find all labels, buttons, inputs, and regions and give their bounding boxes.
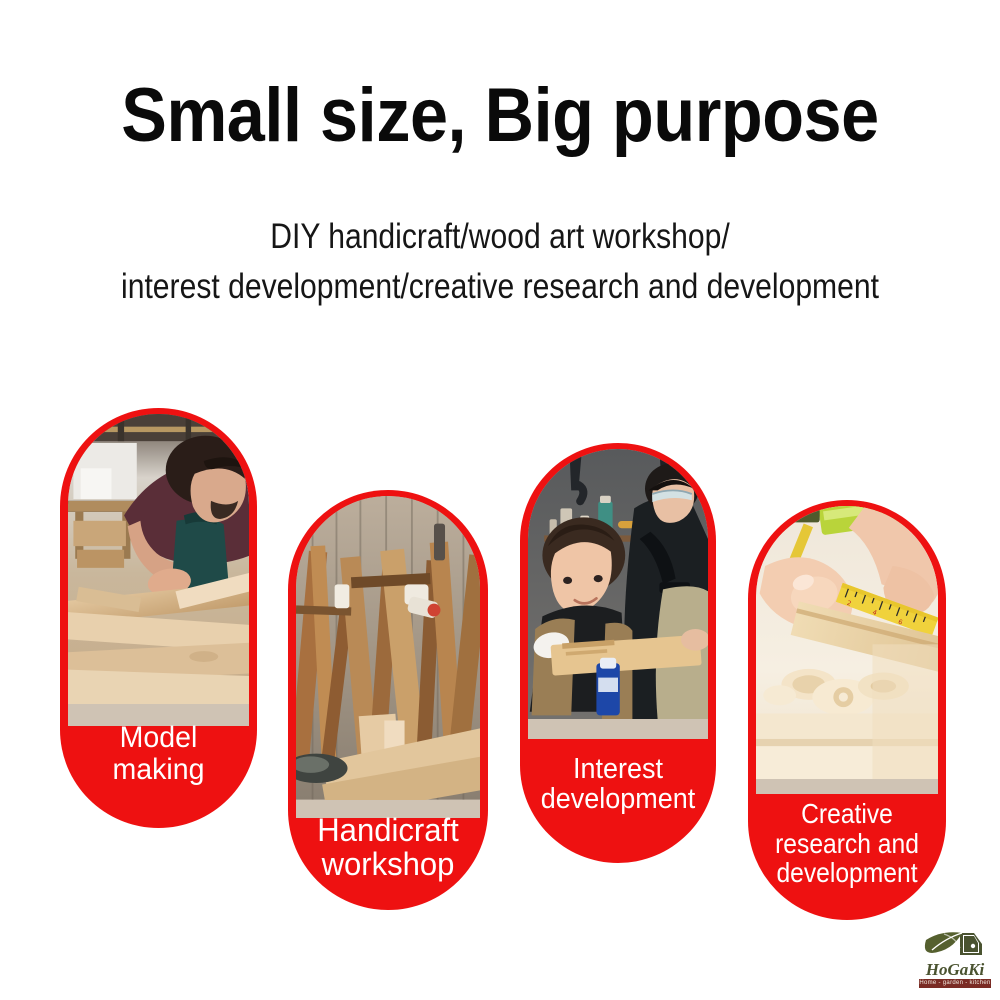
logo-wordmark: HoGaKi bbox=[916, 961, 994, 978]
card-photo-handicraft-workshop bbox=[296, 496, 480, 818]
card-label-model-making: Model making bbox=[65, 722, 252, 786]
house-leaf-icon-svg bbox=[922, 930, 988, 958]
card-label-line: development bbox=[532, 784, 703, 815]
house-leaf-icon bbox=[916, 930, 994, 963]
card-label-handicraft-workshop: Handicraft workshop bbox=[291, 814, 485, 882]
card-label-line: Creative bbox=[765, 799, 929, 829]
measuring-wood-illustration: 2 4 6 bbox=[756, 506, 938, 779]
feature-card-model-making[interactable]: Model making bbox=[60, 408, 257, 828]
card-label-line: Interest bbox=[532, 754, 703, 785]
feature-card-list: Model making bbox=[0, 0, 1000, 1000]
timber-stack-illustration bbox=[296, 496, 480, 800]
card-label-line: Model making bbox=[71, 722, 247, 786]
feature-card-handicraft-workshop[interactable]: Handicraft workshop bbox=[288, 490, 488, 910]
feature-card-interest-development[interactable]: Interest development bbox=[520, 443, 716, 863]
card-label-interest-development: Interest development bbox=[527, 754, 709, 815]
card-label-line: research and bbox=[765, 829, 929, 859]
child-and-instructor-illustration bbox=[528, 449, 708, 719]
logo-tagline: Home - garden - kitchen bbox=[919, 979, 991, 988]
brand-logo: HoGaKi Home - garden - kitchen bbox=[916, 930, 994, 988]
card-label-creative-research-development: Creative research and development bbox=[760, 799, 934, 888]
card-label-line: Handicraft bbox=[297, 814, 479, 848]
card-photo-creative-research-development: 2 4 6 bbox=[756, 506, 938, 794]
card-label-line: development bbox=[765, 858, 929, 888]
feature-card-creative-research-development[interactable]: 2 4 6 bbox=[748, 500, 946, 920]
workshop-carpenter-illustration bbox=[68, 414, 249, 704]
card-photo-interest-development bbox=[528, 449, 708, 739]
card-photo-model-making bbox=[68, 414, 249, 726]
card-label-line: workshop bbox=[297, 848, 479, 882]
